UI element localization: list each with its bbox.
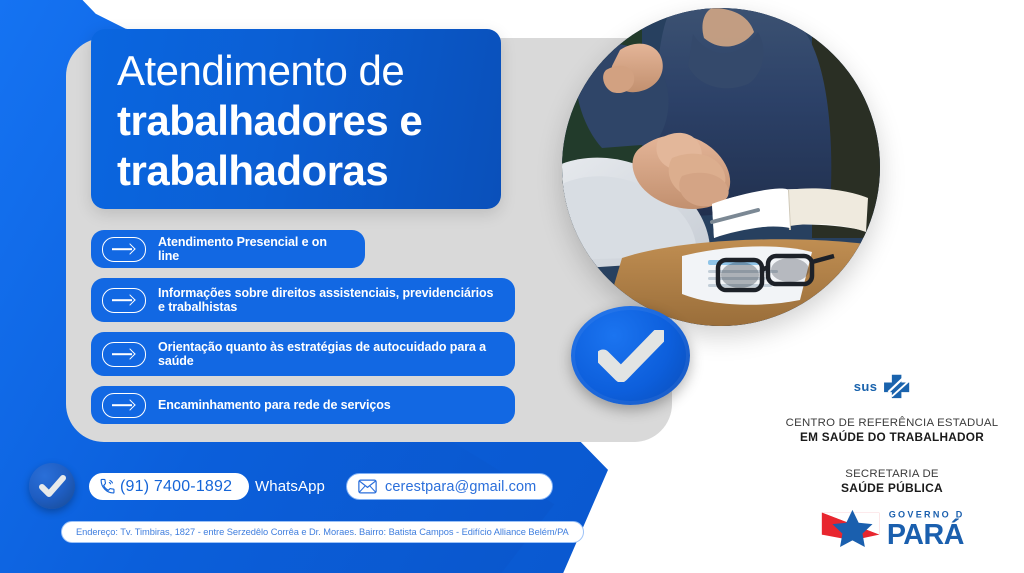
- cerest-line-1: CENTRO DE REFERÊNCIA ESTADUAL: [760, 416, 1024, 430]
- title-line-2: trabalhadores e: [117, 96, 501, 146]
- feature-list: Atendimento Presencial e on line Informa…: [91, 230, 515, 434]
- feature-item-3[interactable]: Orientação quanto às estratégias de auto…: [91, 332, 515, 376]
- secretaria-line-1: SECRETARIA DE: [760, 467, 1024, 481]
- arrow-right-icon: [102, 342, 146, 367]
- arrow-right-icon: [102, 237, 146, 262]
- arrow-right-icon: [102, 288, 146, 313]
- para-logo: GOVERNO DO PARÁ: [760, 506, 1024, 548]
- svg-text:GOVERNO DO: GOVERNO DO: [889, 509, 963, 519]
- consultation-photo: [562, 8, 880, 326]
- feature-item-3-label: Orientação quanto às estratégias de auto…: [158, 340, 501, 368]
- feature-item-2-label: Informações sobre direitos assistenciais…: [158, 286, 501, 314]
- feature-item-1[interactable]: Atendimento Presencial e on line: [91, 230, 365, 268]
- check-icon: [598, 330, 664, 382]
- secretaria-line-2: SAÚDE PÚBLICA: [760, 481, 1024, 496]
- para-flag-star-icon: [822, 510, 879, 547]
- feature-item-1-label: Atendimento Presencial e on line: [158, 235, 351, 263]
- feature-item-2[interactable]: Informações sobre direitos assistenciais…: [91, 278, 515, 322]
- check-icon: [39, 475, 66, 497]
- sus-cross-icon: [884, 375, 909, 398]
- feature-item-4[interactable]: Encaminhamento para rede de serviços: [91, 386, 515, 424]
- whatsapp-label: WhatsApp: [255, 478, 325, 495]
- phone-pill[interactable]: (91) 7400-1892: [89, 473, 249, 500]
- phone-icon: [99, 478, 116, 495]
- logo-stack: sus CENTRO DE REFERÊNCIA ESTADUAL EM SAÚ…: [760, 372, 1024, 548]
- check-circle-badge: [571, 306, 690, 405]
- feature-item-4-label: Encaminhamento para rede de serviços: [158, 398, 391, 412]
- sus-logo: sus: [760, 372, 1024, 400]
- svg-text:PARÁ: PARÁ: [887, 517, 963, 548]
- title-card: Atendimento de trabalhadores e trabalhad…: [91, 29, 501, 209]
- phone-number: (91) 7400-1892: [120, 478, 232, 496]
- poster-canvas: Atendimento de trabalhadores e trabalhad…: [0, 0, 1024, 573]
- title-line-3: trabalhadoras: [117, 146, 501, 196]
- email-address: cerestpara@gmail.com: [385, 479, 536, 495]
- svg-text:sus: sus: [854, 379, 878, 394]
- title-line-1: Atendimento de: [117, 46, 501, 96]
- email-pill[interactable]: cerestpara@gmail.com: [346, 473, 553, 500]
- envelope-icon: [358, 479, 377, 494]
- address-pill: Endereço: Tv. Timbiras, 1827 - entre Ser…: [61, 521, 584, 543]
- arrow-right-icon: [102, 393, 146, 418]
- cerest-line-2: EM SAÚDE DO TRABALHADOR: [760, 430, 1024, 445]
- address-text: Endereço: Tv. Timbiras, 1827 - entre Ser…: [76, 527, 569, 537]
- check-circle-icon-small: [29, 463, 75, 509]
